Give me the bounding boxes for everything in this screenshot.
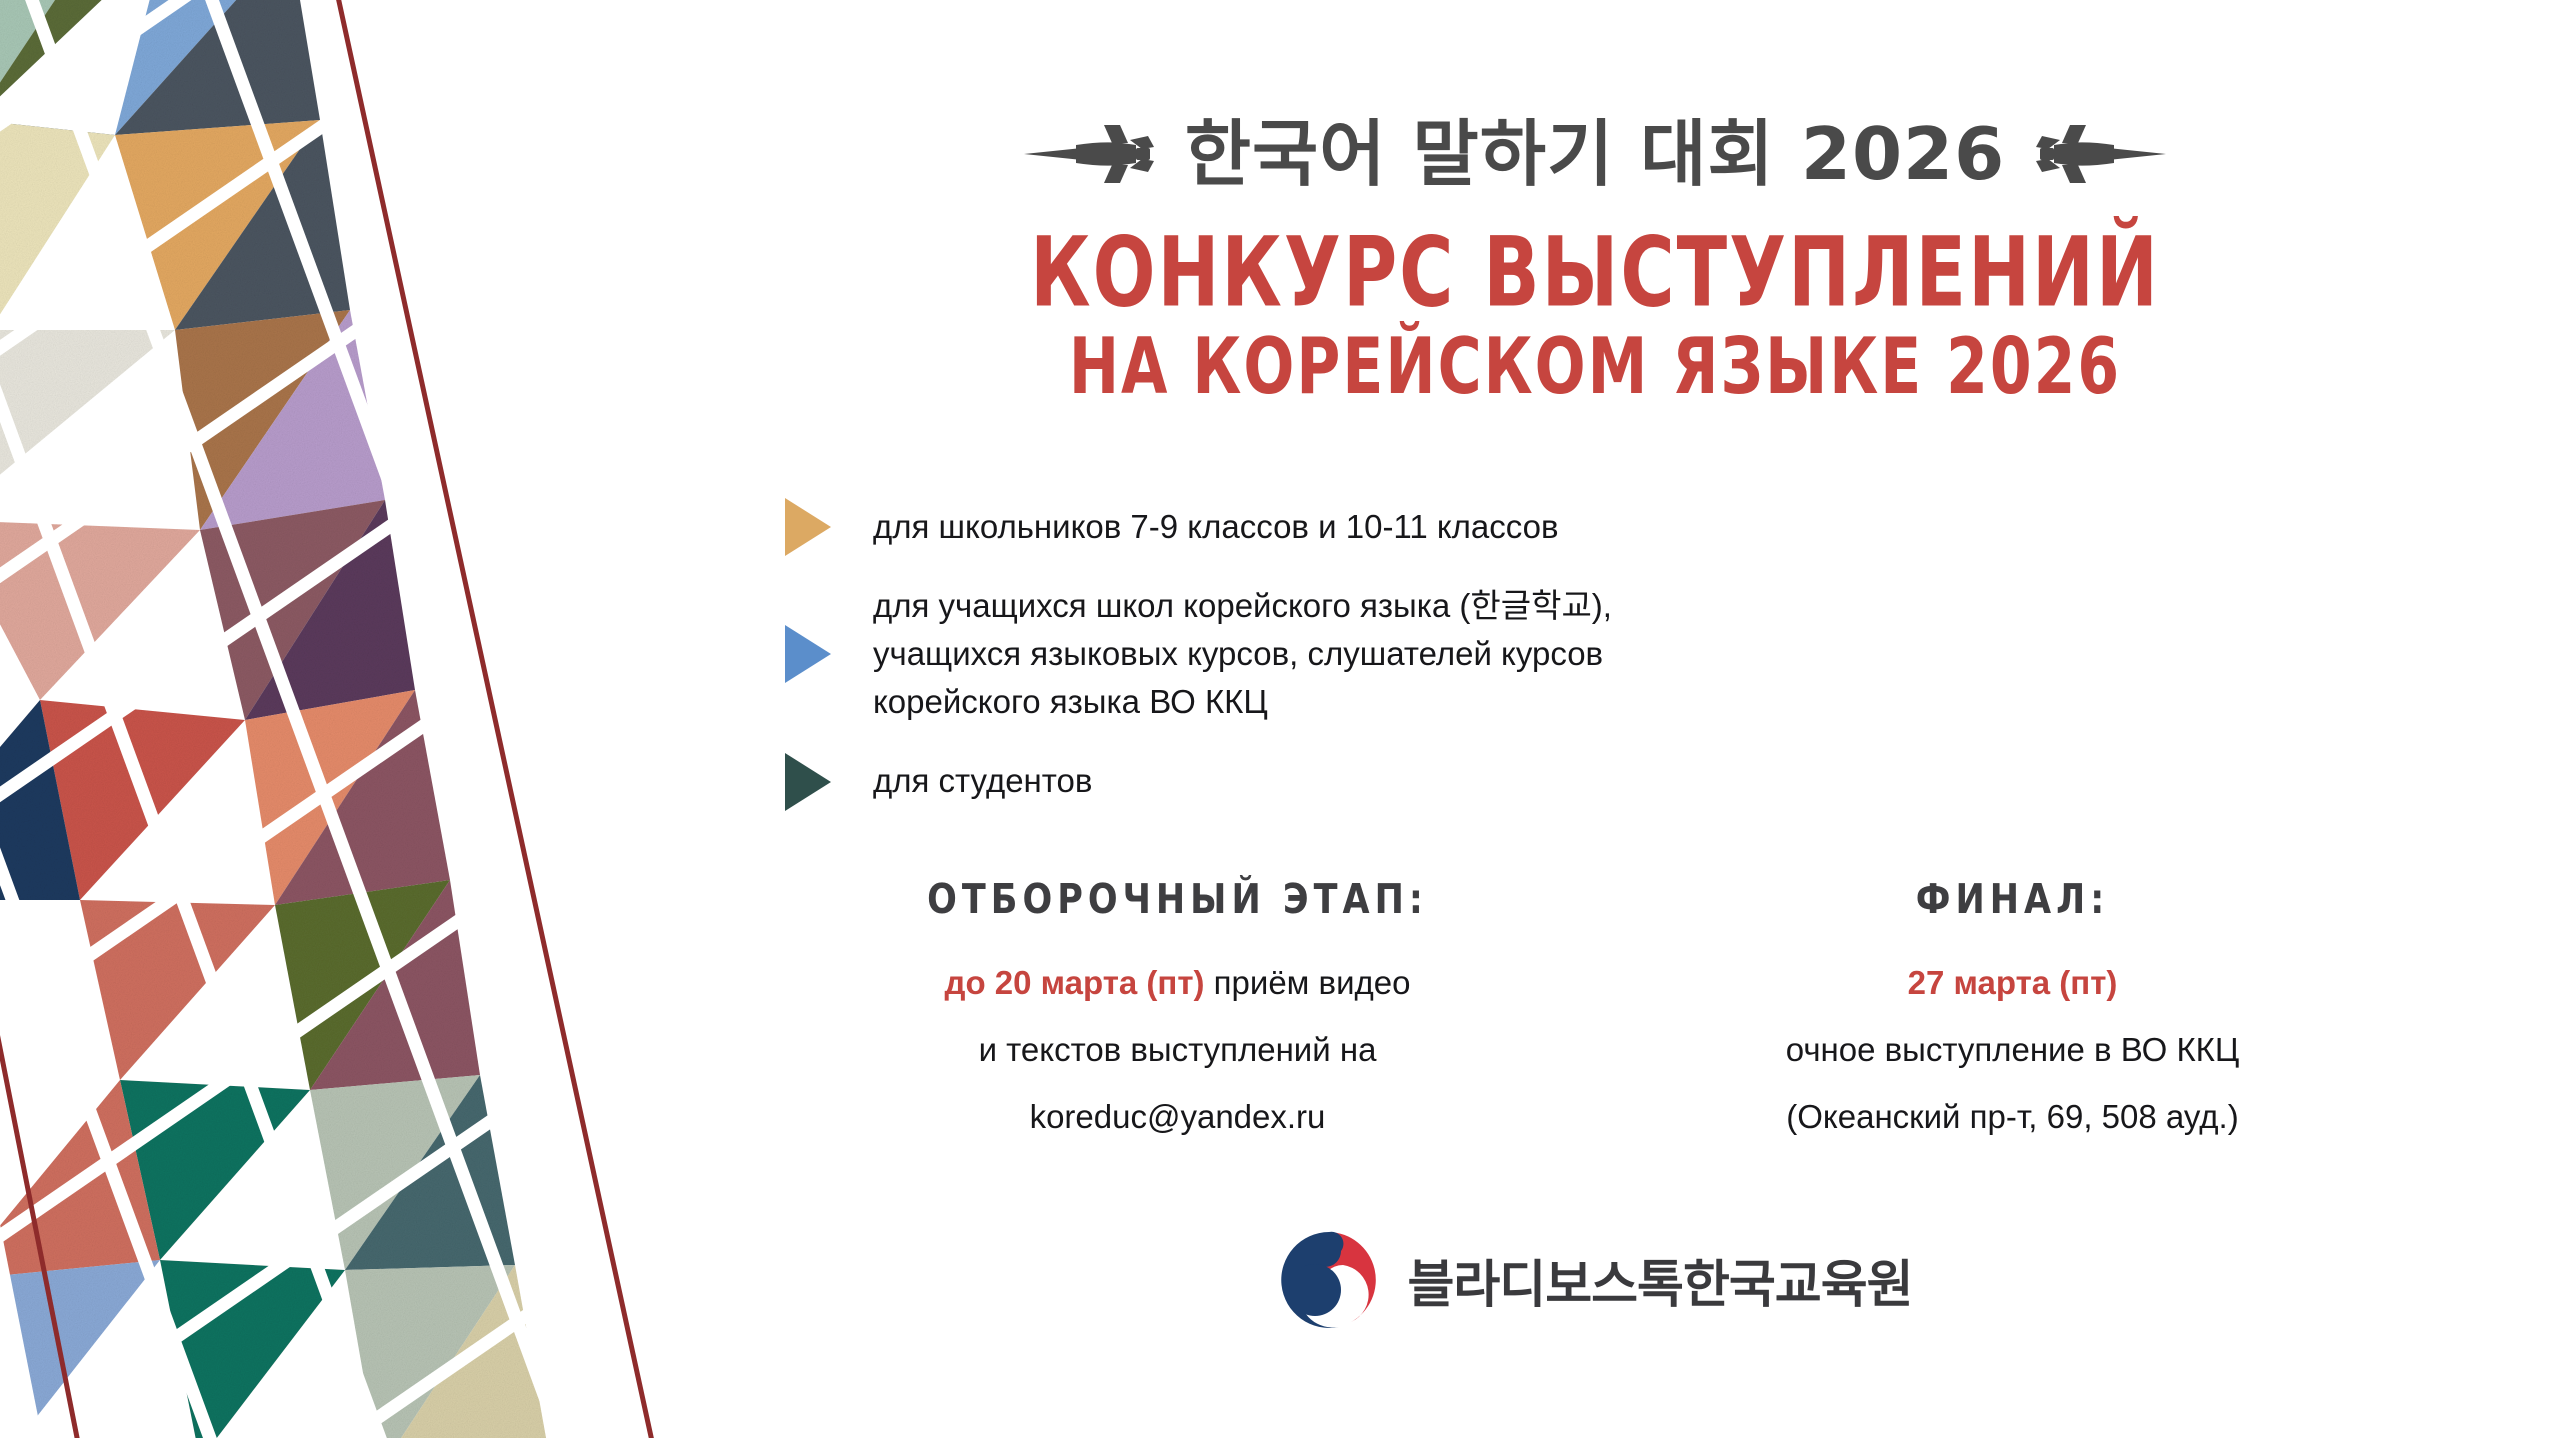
list-item-label: для учащихся школ корейского языка (한글학교… [873,582,1612,727]
audience-line: для школьников 7-9 классов и 10-11 класс… [873,508,1559,545]
triangle-right-icon [785,625,831,683]
audience-line: для студентов [873,762,1092,799]
stages-section: ОТБОРОЧНЫЙ ЭТАП: до 20 марта (пт) приём … [760,880,2430,1133]
list-item: для школьников 7-9 классов и 10-11 класс… [785,498,2410,556]
band-border-line [0,0,660,1438]
stage-detail-line: и текстов выступлений на [760,1033,1595,1066]
audience-line: корейского языка ВО ККЦ [873,683,1268,720]
list-item: для учащихся школ корейского языка (한글학교… [785,582,2410,727]
triangle-mosaic-band [0,0,760,1438]
content-column: 한국어 말하기 대회 2026 КОНКУРС ВЫСТУПЛЕН [760,0,2560,1438]
stage-date-line: 27 марта (пт) [1595,966,2430,999]
stage-detail-line: очное выступление в ВО ККЦ [1595,1033,2430,1066]
stage-heading: ОТБОРОЧНЫЙ ЭТАП: [760,876,1595,923]
stage-venue-address: (Океанский пр-т, 69, 508 ауд.) [1595,1100,2430,1133]
list-item-label: для студентов [873,757,1092,805]
stage-date-line: до 20 марта (пт) приём видео [760,966,1595,999]
list-item-label: для школьников 7-9 классов и 10-11 класс… [873,503,1559,551]
stage-final: ФИНАЛ: 27 марта (пт) очное выступление в… [1595,880,2430,1133]
stage-date: 27 марта (пт) [1908,964,2118,1001]
stage-date: до 20 марта (пт) [945,964,1205,1001]
korean-headline-row: 한국어 말하기 대회 2026 [760,118,2430,190]
stage-heading: ФИНАЛ: [1595,876,2430,923]
title-line-1: КОНКУРС ВЫСТУПЛЕНИЙ [760,225,2430,323]
stage-qualifying: ОТБОРОЧНЫЙ ЭТАП: до 20 марта (пт) приём … [760,880,1595,1133]
triangle-right-icon [785,498,831,556]
airplane-icon [1024,123,1159,185]
stage-contact-email[interactable]: koreduc@yandex.ru [760,1100,1595,1133]
organization-name: 블라디보스톡한국교육원 [1407,1243,1912,1317]
audience-line: для учащихся школ корейского языка (한글학교… [873,587,1612,624]
audience-line: учащихся языковых курсов, слушателей кур… [873,635,1603,672]
airplane-icon [2031,123,2166,185]
stage-date-suffix: приём видео [1205,964,1411,1001]
korea-government-taegeuk-icon [1277,1228,1381,1332]
list-item: для студентов [785,753,2410,811]
korean-headline: 한국어 말하기 대회 2026 [1185,118,2006,190]
organization-logo: 블라디보스톡한국교육원 [760,1228,2430,1332]
triangle-right-icon [785,753,831,811]
title-line-2: НА КОРЕЙСКОМ ЯЗЫКЕ 2026 [760,328,2430,408]
poster-canvas: 한국어 말하기 대회 2026 КОНКУРС ВЫСТУПЛЕН [0,0,2560,1438]
page-title: КОНКУРС ВЫСТУПЛЕНИЙ НА КОРЕЙСКОМ ЯЗЫКЕ 2… [760,225,2430,390]
audience-list: для школьников 7-9 классов и 10-11 класс… [785,498,2410,837]
